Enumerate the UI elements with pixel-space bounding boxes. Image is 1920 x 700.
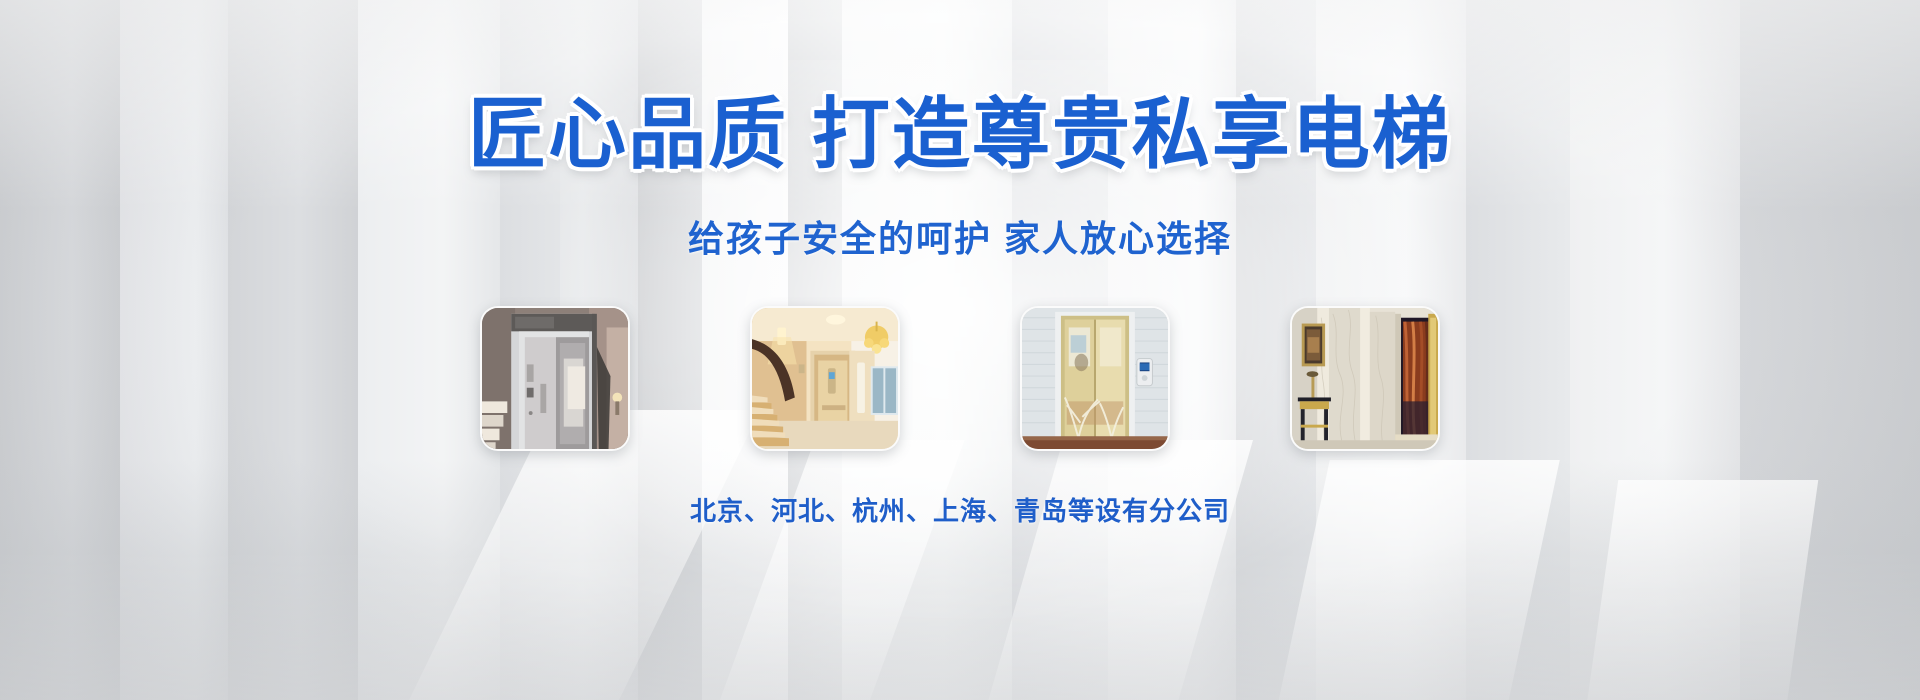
marble-lobby-elevator-image — [1292, 308, 1438, 449]
banner-subheadline: 给孩子安全的呵护 家人放心选择 — [688, 210, 1232, 262]
thumbnail-strip — [480, 306, 1440, 451]
thumbnail-beige-hallway-elevator[interactable] — [750, 306, 900, 451]
thumbnail-silver-home-elevator[interactable] — [480, 306, 630, 451]
silver-home-elevator-image — [482, 308, 628, 449]
banner-footnote: 北京、河北、杭州、上海、青岛等设有分公司 — [690, 491, 1230, 528]
gold-glass-door-elevator-image — [1022, 308, 1168, 449]
beige-hallway-elevator-image — [752, 308, 898, 449]
banner-headline: 匠心品质 打造尊贵私享电梯 — [468, 92, 1452, 176]
hero-banner: 匠心品质 打造尊贵私享电梯 给孩子安全的呵护 家人放心选择 — [0, 0, 1920, 700]
thumbnail-marble-lobby-elevator[interactable] — [1290, 306, 1440, 451]
banner-content: 匠心品质 打造尊贵私享电梯 给孩子安全的呵护 家人放心选择 — [0, 0, 1920, 700]
thumbnail-gold-glass-door-elevator[interactable] — [1020, 306, 1170, 451]
